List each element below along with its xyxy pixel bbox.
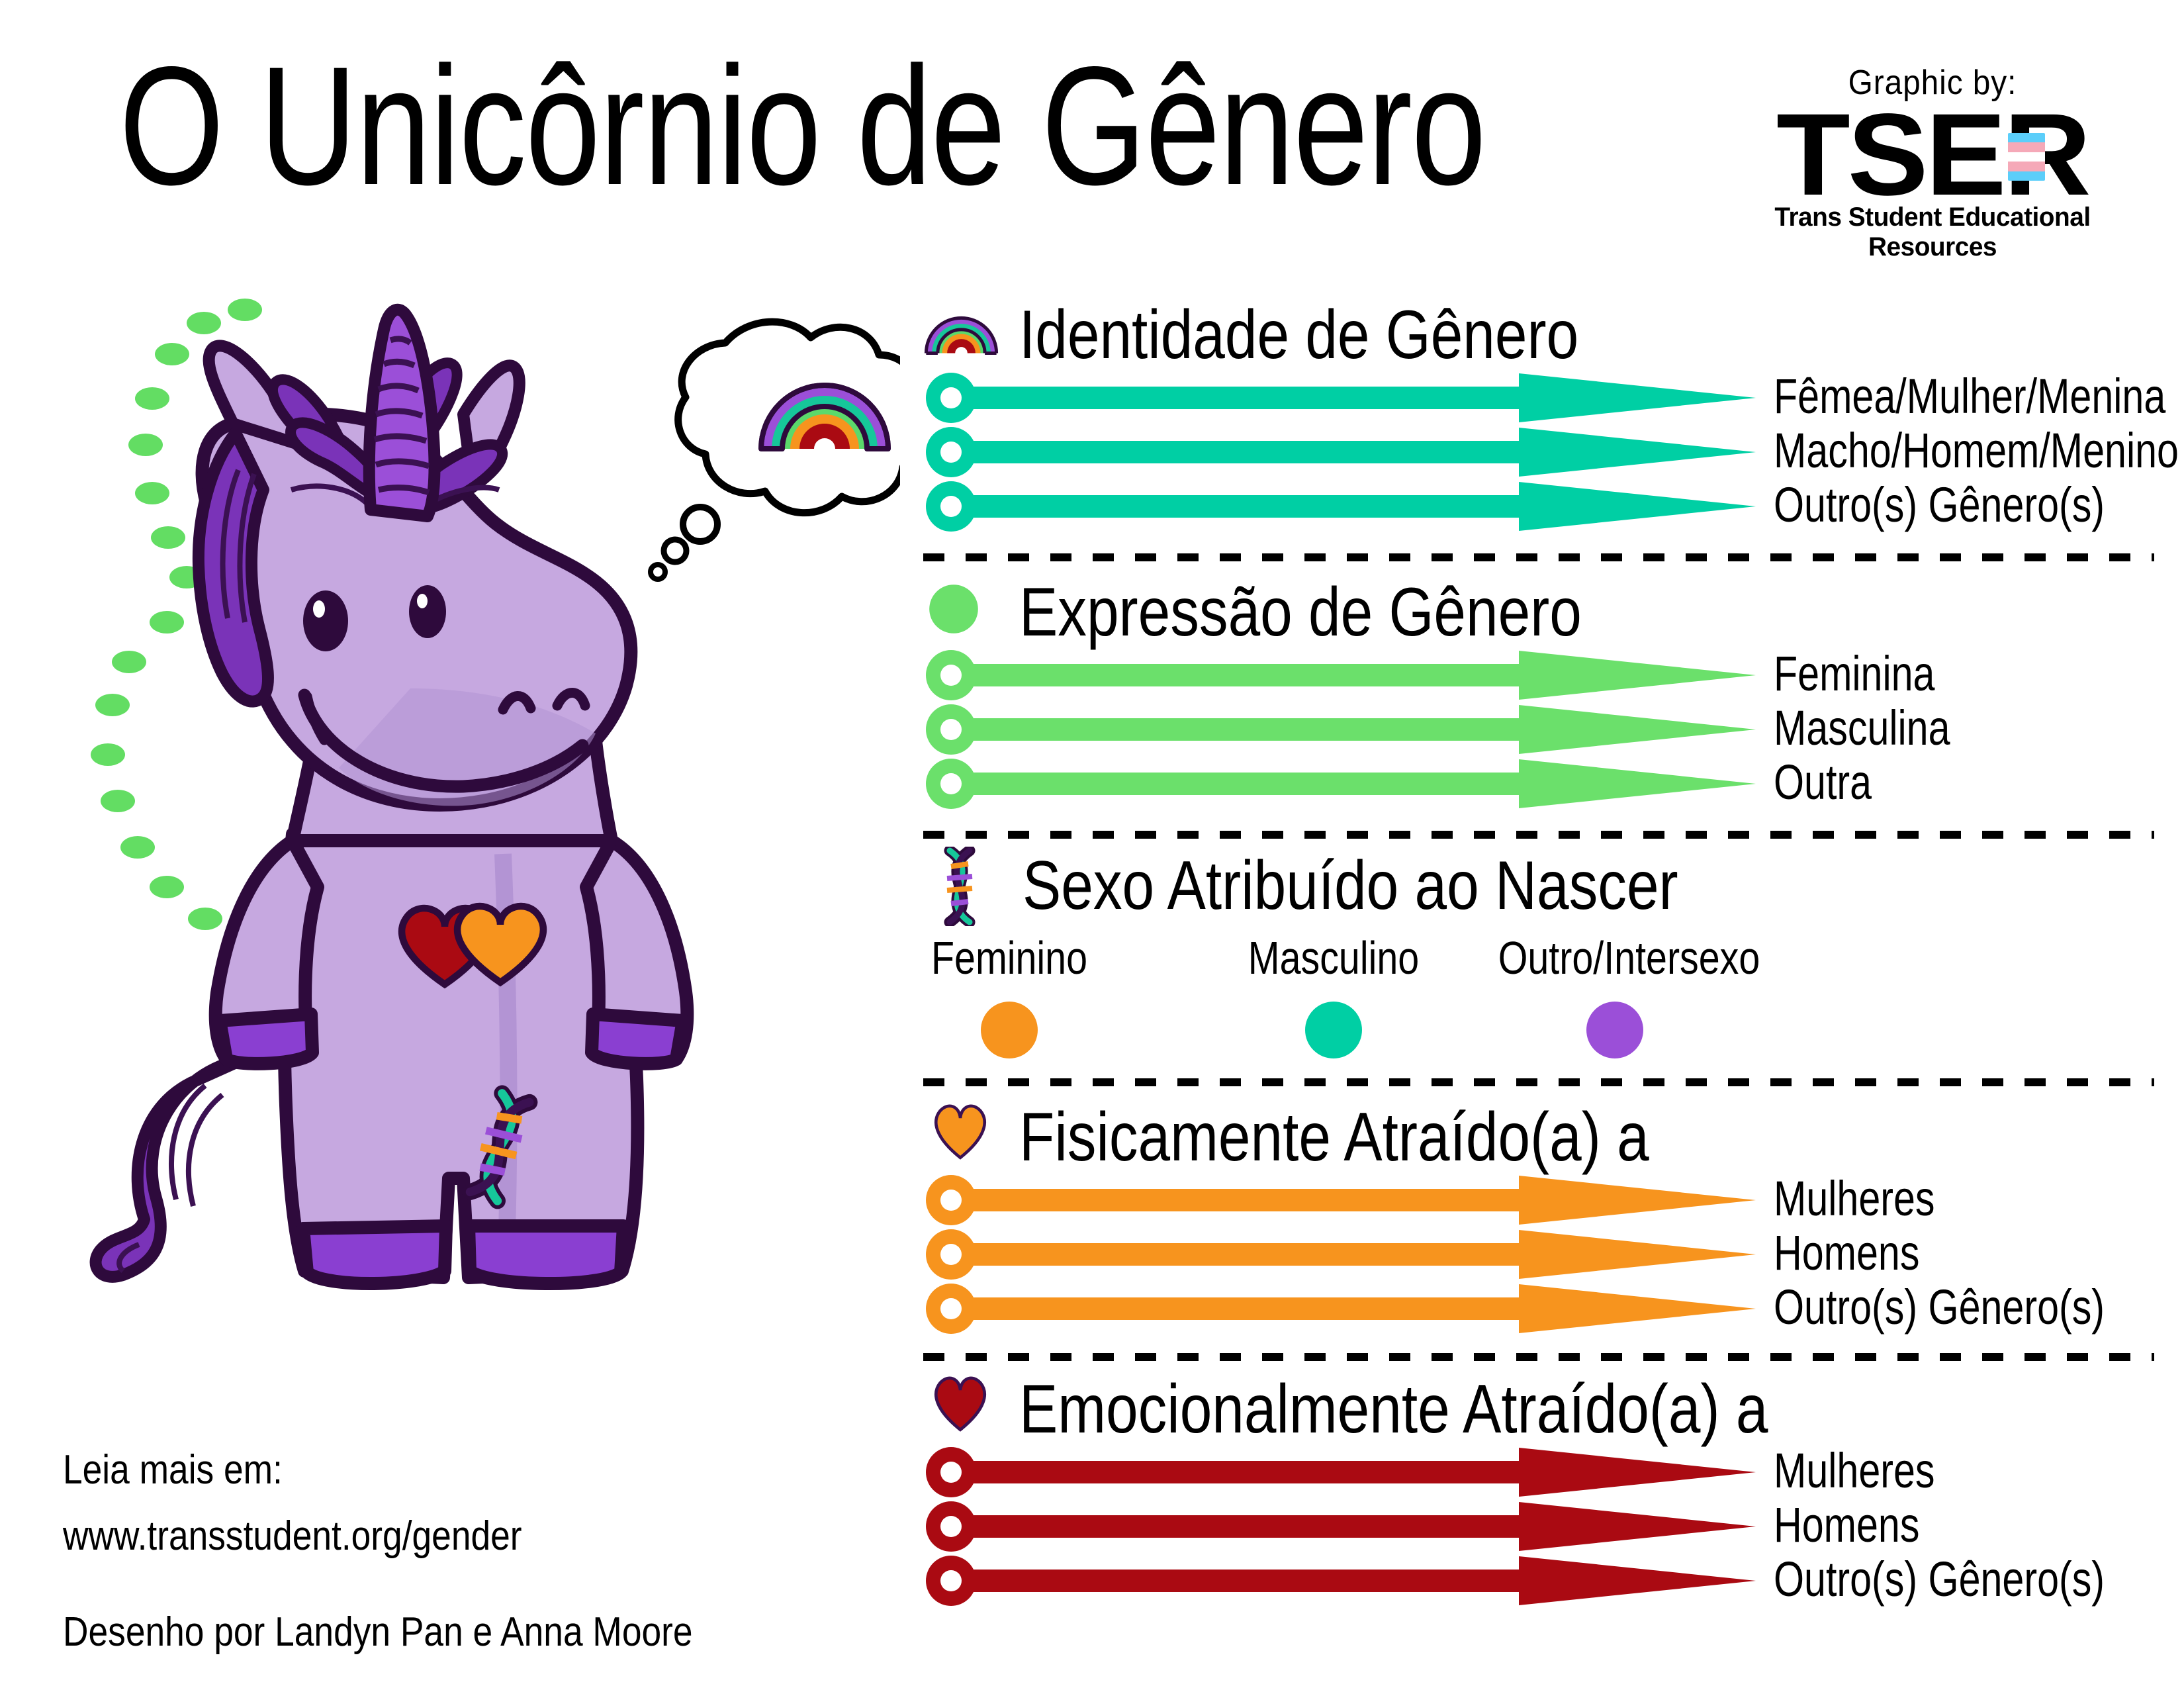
red-heart-icon [930, 1373, 1006, 1439]
section-header: Emocionalmente Atraído(a) a [923, 1376, 2161, 1445]
tser-credit-block: Graphic by: TSER Trans Student Education… [1721, 63, 2144, 262]
section-divider [923, 553, 2161, 561]
sex-option-dot [1305, 1002, 1362, 1058]
spectrum-arrow [923, 425, 1757, 479]
sex-option-label: Outro/Intersexo [1498, 931, 1732, 984]
section-rows: Mulheres Homens [923, 1445, 2161, 1608]
orange-heart-icon [930, 1101, 1006, 1167]
spectrum-row-label: Fêmea/Mulher/Menina [1774, 368, 2165, 424]
spectrum-row-label: Outro(s) Gênero(s) [1774, 1551, 2105, 1607]
spectrum-row[interactable]: Outro(s) Gênero(s) [923, 1554, 2161, 1608]
section-sex-assigned-at-birth: Sexo Atribuído ao Nascer Feminino Mascul… [923, 852, 2161, 1084]
rainbow-icon [923, 301, 999, 367]
spectrum-arrow [923, 1173, 1757, 1227]
read-more-label: Leia mais em: [63, 1446, 283, 1493]
unicorn-illustration [40, 291, 900, 1430]
spectrum-row[interactable]: Outro(s) Gênero(s) [923, 1282, 2161, 1336]
section-physically-attracted: Fisicamente Atraído(a) a Mulheres [923, 1103, 2161, 1336]
spectrum-arrow [923, 648, 1757, 702]
section-header: Sexo Atribuído ao Nascer [923, 852, 2161, 931]
spectrum-row-label: Outra [1774, 754, 1872, 810]
spectrum-row[interactable]: Masculina [923, 702, 2161, 757]
design-credit: Desenho por Landyn Pan e Anna Moore [63, 1609, 693, 1656]
spectrum-arrow [923, 1554, 1757, 1608]
spectrum-row[interactable]: Feminina [923, 648, 2161, 702]
unicorn-horn [369, 310, 435, 516]
section-header: Fisicamente Atraído(a) a [923, 1103, 2161, 1173]
section-rows: Mulheres Homens [923, 1173, 2161, 1336]
spectrum-row[interactable]: Mulheres [923, 1445, 2161, 1499]
spectrum-arrow [923, 1282, 1757, 1336]
section-rows: Feminina Masculina [923, 648, 2161, 811]
section-title: Identidade de Gênero [1019, 296, 1578, 375]
sex-option-label: Masculino [1242, 931, 1426, 984]
sex-option[interactable]: Outro/Intersexo [1473, 931, 1757, 1058]
spectrum-row-label: Outro(s) Gênero(s) [1774, 1279, 2105, 1335]
spectrum-arrow [923, 1227, 1757, 1282]
section-title: Expressão de Gênero [1019, 573, 1582, 652]
spectrum-row[interactable]: Homens [923, 1499, 2161, 1554]
spectrum-row-label: Macho/Homem/Menino [1774, 422, 2179, 479]
tser-logo: TSER [1782, 104, 2082, 207]
spectrum-row[interactable]: Fêmea/Mulher/Menina [923, 371, 2161, 425]
sex-option-label: Feminino [917, 931, 1102, 984]
sex-option-dot [981, 1002, 1038, 1058]
spectrum-row-label: Feminina [1774, 645, 1934, 702]
spectrum-row-label: Mulheres [1774, 1170, 1934, 1227]
spectrum-arrow [923, 371, 1757, 425]
spectrum-row-label: Masculina [1774, 700, 1950, 756]
sex-option-dot [1586, 1002, 1643, 1058]
dna-icon [930, 847, 1006, 913]
spectrum-sections: Identidade de Gênero Fêmea/Mulher/Menina [923, 301, 2161, 1608]
section-divider [923, 1078, 2161, 1086]
section-title: Sexo Atribuído ao Nascer [1023, 847, 1678, 925]
spectrum-row[interactable]: Outro(s) Gênero(s) [923, 479, 2161, 534]
spectrum-row-label: Outro(s) Gênero(s) [1774, 477, 2105, 533]
section-divider [923, 1353, 2161, 1361]
unicorn-character [96, 310, 688, 1284]
spectrum-arrow [923, 757, 1757, 811]
spectrum-arrow [923, 1499, 1757, 1554]
spectrum-arrow [923, 479, 1757, 534]
spectrum-row[interactable]: Outra [923, 757, 2161, 811]
spectrum-row[interactable]: Macho/Homem/Menino [923, 425, 2161, 479]
spectrum-row-label: Homens [1774, 1497, 1919, 1553]
sex-option[interactable]: Feminino [897, 931, 1122, 1058]
section-emotionally-attracted: Emocionalmente Atraído(a) a Mulheres [923, 1376, 2161, 1608]
spectrum-row[interactable]: Homens [923, 1227, 2161, 1282]
sex-option[interactable]: Masculino [1221, 931, 1446, 1058]
green-circle-icon [923, 579, 999, 645]
spectrum-arrow [923, 1445, 1757, 1499]
tser-full-name: Trans Student Educational Resources [1727, 203, 2138, 262]
spectrum-row-label: Homens [1774, 1225, 1919, 1281]
section-title: Fisicamente Atraído(a) a [1019, 1098, 1649, 1177]
sex-assigned-options: Feminino Masculino Outro/Intersexo [923, 931, 2161, 1084]
spectrum-row[interactable]: Mulheres [923, 1173, 2161, 1227]
page-title: O Unicôrnio de Gênero [119, 46, 1485, 207]
spectrum-arrow [923, 702, 1757, 757]
section-gender-expression: Expressão de Gênero Feminina [923, 579, 2161, 811]
section-gender-identity: Identidade de Gênero Fêmea/Mulher/Menina [923, 301, 2161, 534]
section-rows: Fêmea/Mulher/Menina Macho/Homem/Menino [923, 371, 2161, 534]
section-divider [923, 831, 2161, 839]
section-header: Identidade de Gênero [923, 301, 2161, 371]
spectrum-row-label: Mulheres [1774, 1442, 1934, 1499]
trans-flag-icon [2008, 133, 2045, 181]
transstudent-link[interactable]: www.transstudent.org/gender [63, 1513, 522, 1560]
section-title: Emocionalmente Atraído(a) a [1019, 1370, 1768, 1449]
infographic-canvas: O Unicôrnio de Gênero Graphic by: TSER T… [0, 0, 2184, 1688]
section-header: Expressão de Gênero [923, 579, 2161, 648]
thought-bubble-icon [651, 322, 900, 579]
